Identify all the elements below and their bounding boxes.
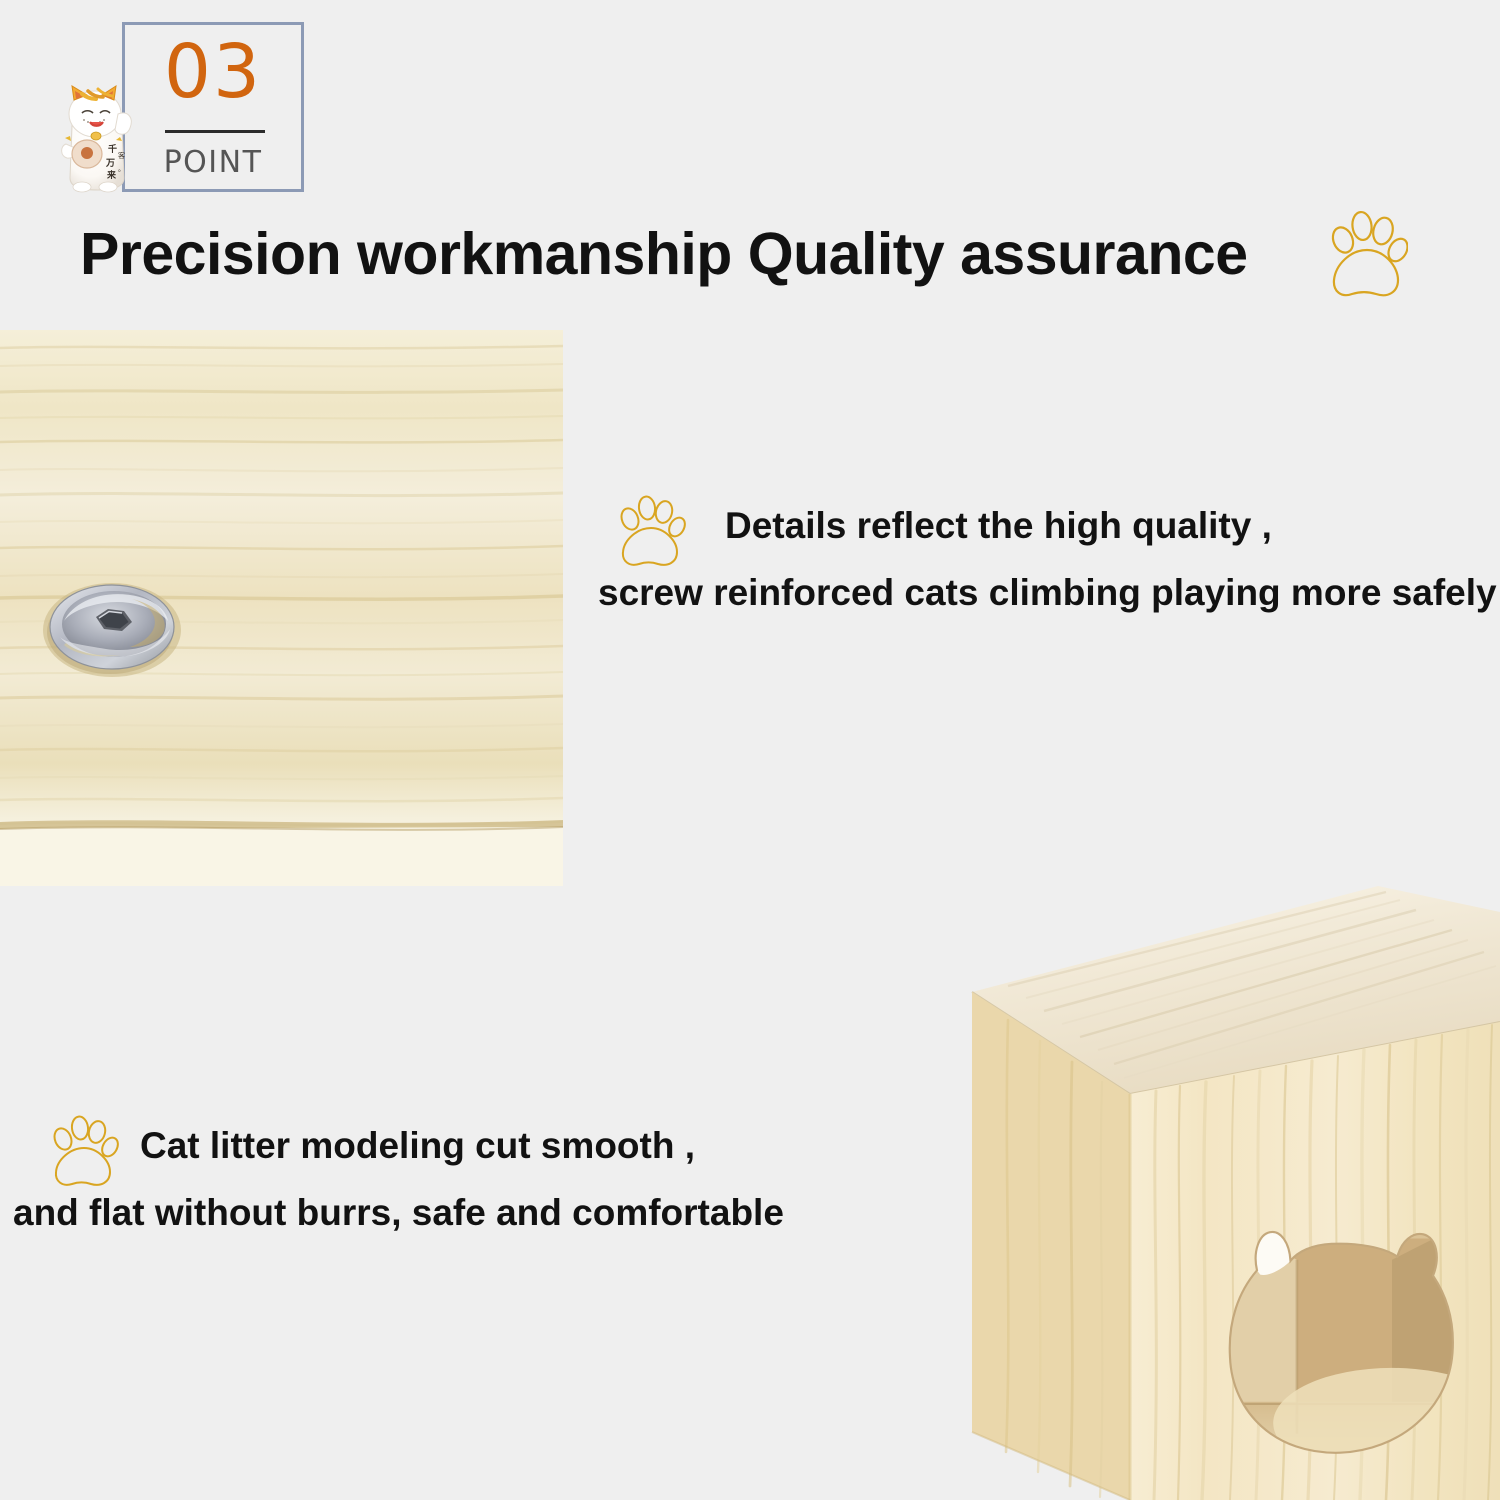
badge-number: 03: [125, 35, 301, 109]
paw-print-icon: [53, 1112, 119, 1192]
svg-text:。: 。: [118, 165, 125, 173]
svg-text:来: 来: [106, 169, 117, 181]
badge-label: POINT: [125, 143, 301, 182]
wooden-cat-house-image: [948, 872, 1500, 1500]
wood-screw-closeup-image: [0, 330, 563, 886]
point-badge-box: 03 POINT: [122, 22, 304, 192]
svg-text:千: 千: [108, 143, 117, 155]
maneki-neko-icon: 千 万 来 客 。: [52, 74, 138, 196]
feature-line-1: Cat litter modeling cut smooth ,: [140, 1127, 695, 1164]
feature-line-2: and flat without burrs, safe and comfort…: [13, 1194, 784, 1231]
badge-divider: [165, 130, 265, 133]
svg-text:万: 万: [105, 158, 115, 169]
svg-text:客: 客: [118, 151, 125, 160]
paw-print-icon: [1330, 206, 1408, 304]
paw-print-icon: [620, 492, 686, 572]
feature-line-2: screw reinforced cats climbing playing m…: [598, 574, 1497, 611]
page-title: Precision workmanship Quality assurance: [80, 222, 1248, 287]
feature-line-1: Details reflect the high quality ,: [725, 507, 1272, 544]
